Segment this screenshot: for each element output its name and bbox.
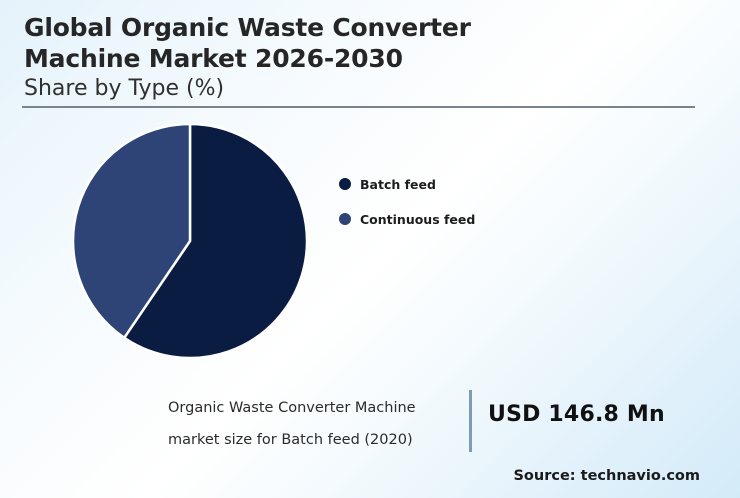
callout-vertical-divider — [469, 390, 472, 452]
callout-value: USD 146.8 Mn — [488, 402, 665, 427]
source-attribution: Source: technavio.com — [513, 468, 700, 484]
circle-bullet-icon — [339, 213, 351, 225]
chart-legend: Batch feed Continuous feed — [339, 172, 475, 242]
pie-chart — [73, 124, 307, 358]
page-subtitle: Share by Type (%) — [24, 75, 714, 103]
callout-description: Organic Waste Converter Machine market s… — [168, 392, 458, 456]
page-title-line-2: Machine Market 2026-2030 — [24, 43, 714, 74]
legend-item-batch-feed[interactable]: Batch feed — [339, 172, 475, 196]
circle-bullet-icon — [339, 178, 351, 190]
pie-chart-svg — [73, 124, 307, 358]
header: Global Organic Waste Converter Machine M… — [24, 12, 714, 103]
legend-label-batch-feed: Batch feed — [360, 177, 436, 192]
legend-label-continuous-feed: Continuous feed — [360, 212, 475, 227]
callout-block: Organic Waste Converter Machine market s… — [168, 386, 708, 456]
callout-description-line-1: Organic Waste Converter Machine — [168, 392, 458, 424]
infographic-canvas: Global Organic Waste Converter Machine M… — [0, 0, 740, 498]
pie-slices — [73, 124, 307, 358]
page-title-line-1: Global Organic Waste Converter — [24, 12, 714, 43]
callout-description-line-2: market size for Batch feed (2020) — [168, 424, 458, 456]
legend-item-continuous-feed[interactable]: Continuous feed — [339, 207, 475, 231]
header-divider — [22, 106, 695, 108]
